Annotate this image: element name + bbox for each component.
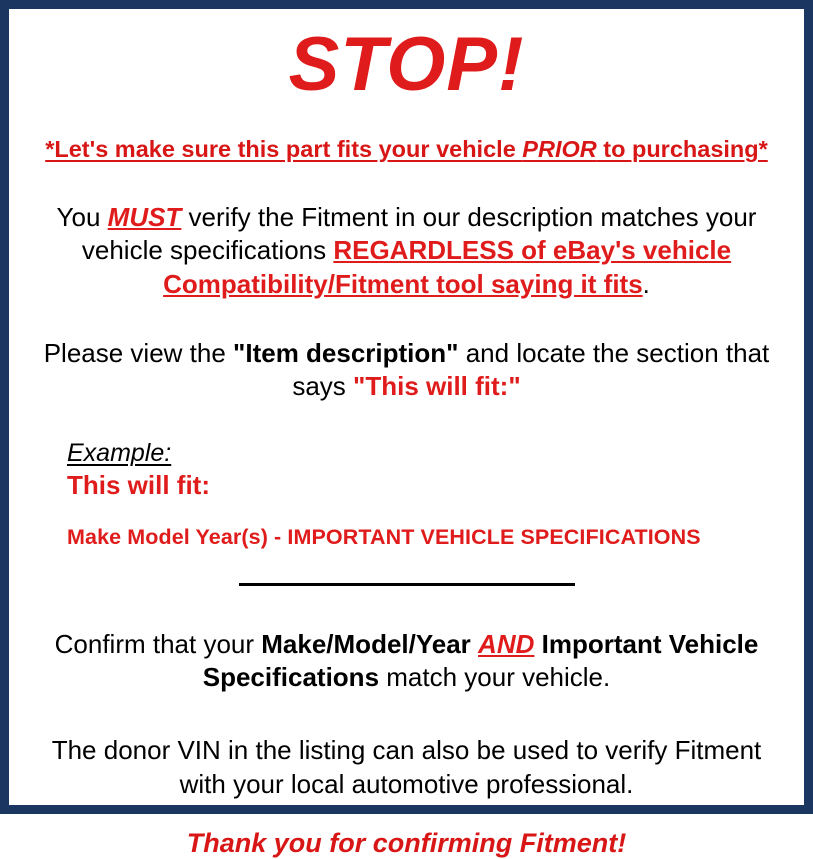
- must-paragraph-part1: You: [57, 202, 108, 232]
- view-description-paragraph: Please view the "Item description" and l…: [23, 337, 790, 404]
- must-emphasis: MUST: [108, 202, 182, 232]
- confirm-space-2: [534, 629, 541, 659]
- example-label: Example:: [67, 439, 171, 468]
- example-spec-line: Make Model Year(s) - IMPORTANT VEHICLE S…: [67, 525, 790, 550]
- fitment-notice-frame: STOP! *Let's make sure this part fits yo…: [0, 0, 813, 814]
- subheading-emphasis-prior: PRIOR: [522, 136, 596, 162]
- confirm-paragraph-part2: match your vehicle.: [379, 662, 610, 692]
- view-paragraph-part1: Please view the: [44, 338, 233, 368]
- example-fit-heading: This will fit:: [67, 471, 790, 501]
- fitment-notice-content: STOP! *Let's make sure this part fits yo…: [9, 27, 804, 823]
- make-model-year-emphasis: Make/Model/Year: [261, 629, 471, 659]
- item-description-label: "Item description": [233, 338, 458, 368]
- stop-title: STOP!: [23, 27, 790, 103]
- confirm-space-1: [471, 629, 478, 659]
- this-will-fit-quote: "This will fit:": [353, 371, 521, 401]
- must-verify-paragraph: You MUST verify the Fitment in our descr…: [23, 201, 790, 301]
- confirm-paragraph-part1: Confirm that your: [55, 629, 262, 659]
- thank-you-line: Thank you for confirming Fitment!: [23, 827, 790, 859]
- divider-row: [23, 576, 790, 594]
- example-label-row: Example:: [67, 439, 790, 468]
- example-block: Example: This will fit: Make Model Year(…: [23, 439, 790, 549]
- subheading-prefix: *Let's make sure this part fits your veh…: [45, 136, 522, 162]
- horizontal-divider: [239, 583, 575, 586]
- donor-vin-paragraph: The donor VIN in the listing can also be…: [23, 734, 790, 801]
- fitment-subheading: *Let's make sure this part fits your veh…: [23, 136, 790, 163]
- and-emphasis: AND: [478, 629, 534, 659]
- subheading-suffix: to purchasing*: [597, 136, 768, 162]
- must-paragraph-part3: .: [643, 269, 650, 299]
- confirm-paragraph: Confirm that your Make/Model/Year AND Im…: [23, 628, 790, 695]
